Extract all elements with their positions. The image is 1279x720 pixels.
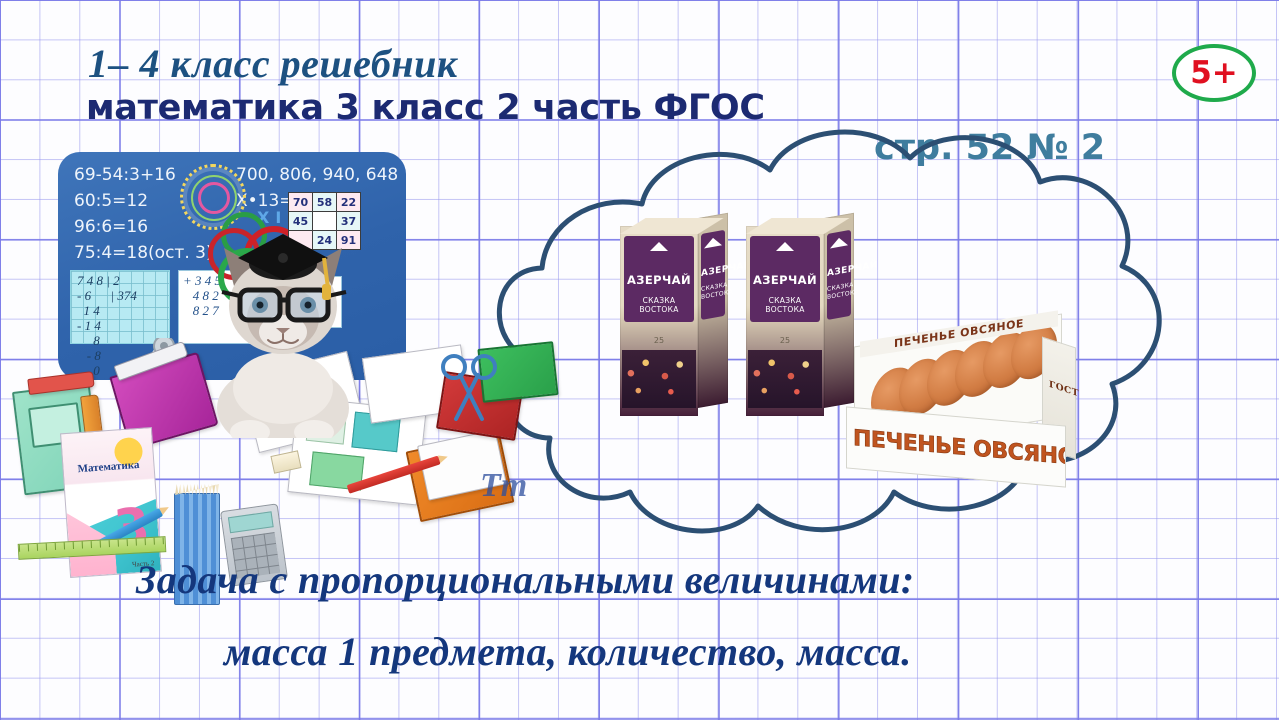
tea-box-side-label: АЗЕРЧАЙ СКАЗКА ВОСТОКА xyxy=(701,230,725,320)
dial-ring-pink xyxy=(198,182,230,214)
tea-bag-count: 25 xyxy=(620,336,698,345)
tea-sub-side: СКАЗКА ВОСТОКА xyxy=(701,282,725,302)
watermark-logo: Тт xyxy=(480,467,527,505)
table-cell: 22 xyxy=(337,193,361,212)
pencil-tip-icon xyxy=(159,504,171,515)
cookie-box: ПЕЧЕНЬЕ ОВСЯНОЕ ГОСТ ПЕЧЕНЬЕ ОВСЯНОЕ xyxy=(846,330,1076,510)
table-cell: 58 xyxy=(313,193,337,212)
mountain-logo-icon xyxy=(650,242,668,251)
ruler-ticks xyxy=(19,537,165,552)
tea-box-2: АЗЕРЧАЙ СКАЗКА ВОСТОКА АЗЕРЧАЙ СКАЗКА ВО… xyxy=(746,218,854,416)
tea-brand-side: АЗЕРЧАЙ xyxy=(827,265,851,279)
tea-box-side-label: АЗЕРЧАЙ СКАЗКА ВОСТОКА xyxy=(827,230,851,320)
calculator-screen xyxy=(228,511,274,533)
number-series: 700, 806, 940, 648 xyxy=(236,162,398,188)
mountain-logo-icon xyxy=(776,242,794,251)
age-rating-label: 5+ xyxy=(1190,58,1238,89)
mountain-logo-icon xyxy=(830,236,848,248)
tea-bag-count: 25 xyxy=(746,336,824,345)
gost-mark: ГОСТ xyxy=(1049,380,1079,400)
pencil-bundle-tips-icon xyxy=(175,484,219,495)
footer-line-2: масса 1 предмета, количество, масса. xyxy=(224,628,912,675)
tea-sub: СКАЗКА ВОСТОКА xyxy=(624,296,694,314)
tea-box-1: АЗЕРЧАЙ СКАЗКА ВОСТОКА АЗЕРЧАЙ СКАЗКА ВО… xyxy=(620,218,728,416)
tea-sub: СКАЗКА ВОСТОКА xyxy=(750,296,820,314)
tea-berries-photo xyxy=(748,350,822,408)
tea-brand: АЗЕРЧАЙ xyxy=(624,273,694,287)
table-cell: 70 xyxy=(289,193,313,212)
tea-berries-photo xyxy=(622,350,696,408)
long-division-worksheet: 7 4 8 | 2 - 6 | 374 1 4 - 1 4 8 - 8 0 xyxy=(70,270,170,344)
tea-box-label: АЗЕРЧАЙ СКАЗКА ВОСТОКА xyxy=(624,236,694,322)
age-rating-badge: 5+ xyxy=(1172,44,1256,102)
cookie-box-front-text: ПЕЧЕНЬЕ ОВСЯНОЕ xyxy=(853,426,1066,472)
tea-brand-side: АЗЕРЧАЙ xyxy=(701,265,725,279)
page-title-script: 1– 4 класс решебник xyxy=(88,40,458,87)
table-row: 70 58 22 xyxy=(289,193,361,212)
slide-canvas: 1– 4 класс решебник математика 3 класс 2… xyxy=(0,0,1279,720)
tea-brand: АЗЕРЧАЙ xyxy=(750,273,820,287)
mountain-logo-icon xyxy=(704,236,722,248)
tea-sub-side: СКАЗКА ВОСТОКА xyxy=(827,282,851,302)
scissors-icon xyxy=(440,353,500,423)
footer-line-1: Задача с пропорциональными величинами: xyxy=(136,556,915,603)
cat-illustration xyxy=(178,228,388,438)
tea-box-label: АЗЕРЧАЙ СКАЗКА ВОСТОКА xyxy=(750,236,820,322)
textbook-title: Математика xyxy=(63,458,154,476)
